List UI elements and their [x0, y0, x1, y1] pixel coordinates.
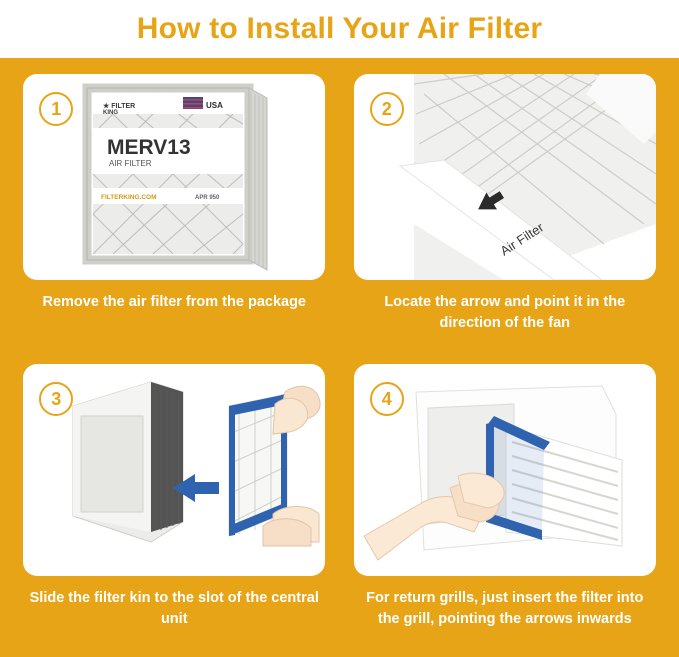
step-3-card: 3 — [23, 364, 325, 576]
title-band: How to Install Your Air Filter — [0, 0, 679, 58]
step-2-caption: Locate the arrow and point it in the dir… — [355, 292, 655, 334]
step-4-number-badge: 4 — [370, 382, 404, 416]
page-title: How to Install Your Air Filter — [137, 12, 542, 46]
step-4-card: 4 — [354, 364, 656, 576]
step-2-card: 2 — [354, 74, 656, 280]
svg-text:AIR FILTER: AIR FILTER — [109, 159, 152, 168]
step-3-number-badge: 3 — [39, 382, 73, 416]
infographic-root: How to Install Your Air Filter 1 — [0, 0, 679, 657]
step-3: 3 — [14, 360, 335, 657]
svg-text:APR 950: APR 950 — [195, 195, 220, 201]
step-4: 4 — [345, 360, 666, 657]
steps-grid: 1 — [0, 58, 679, 657]
step-1: 1 — [14, 70, 335, 360]
step-2-number-badge: 2 — [370, 92, 404, 126]
step-1-card: 1 — [23, 74, 325, 280]
svg-text:MERV13: MERV13 — [107, 136, 191, 159]
svg-text:FILTERKING.COM: FILTERKING.COM — [101, 194, 157, 201]
step-1-caption: Remove the air filter from the package — [24, 292, 324, 313]
svg-text:KING: KING — [103, 110, 118, 116]
step-3-caption: Slide the filter kin to the slot of the … — [24, 588, 324, 630]
step-4-caption: For return grills, just insert the filte… — [355, 588, 655, 630]
step-1-number-badge: 1 — [39, 92, 73, 126]
svg-text:USA: USA — [206, 101, 223, 110]
svg-text:★ FILTER: ★ FILTER — [103, 102, 135, 110]
step-2: 2 — [345, 70, 666, 360]
